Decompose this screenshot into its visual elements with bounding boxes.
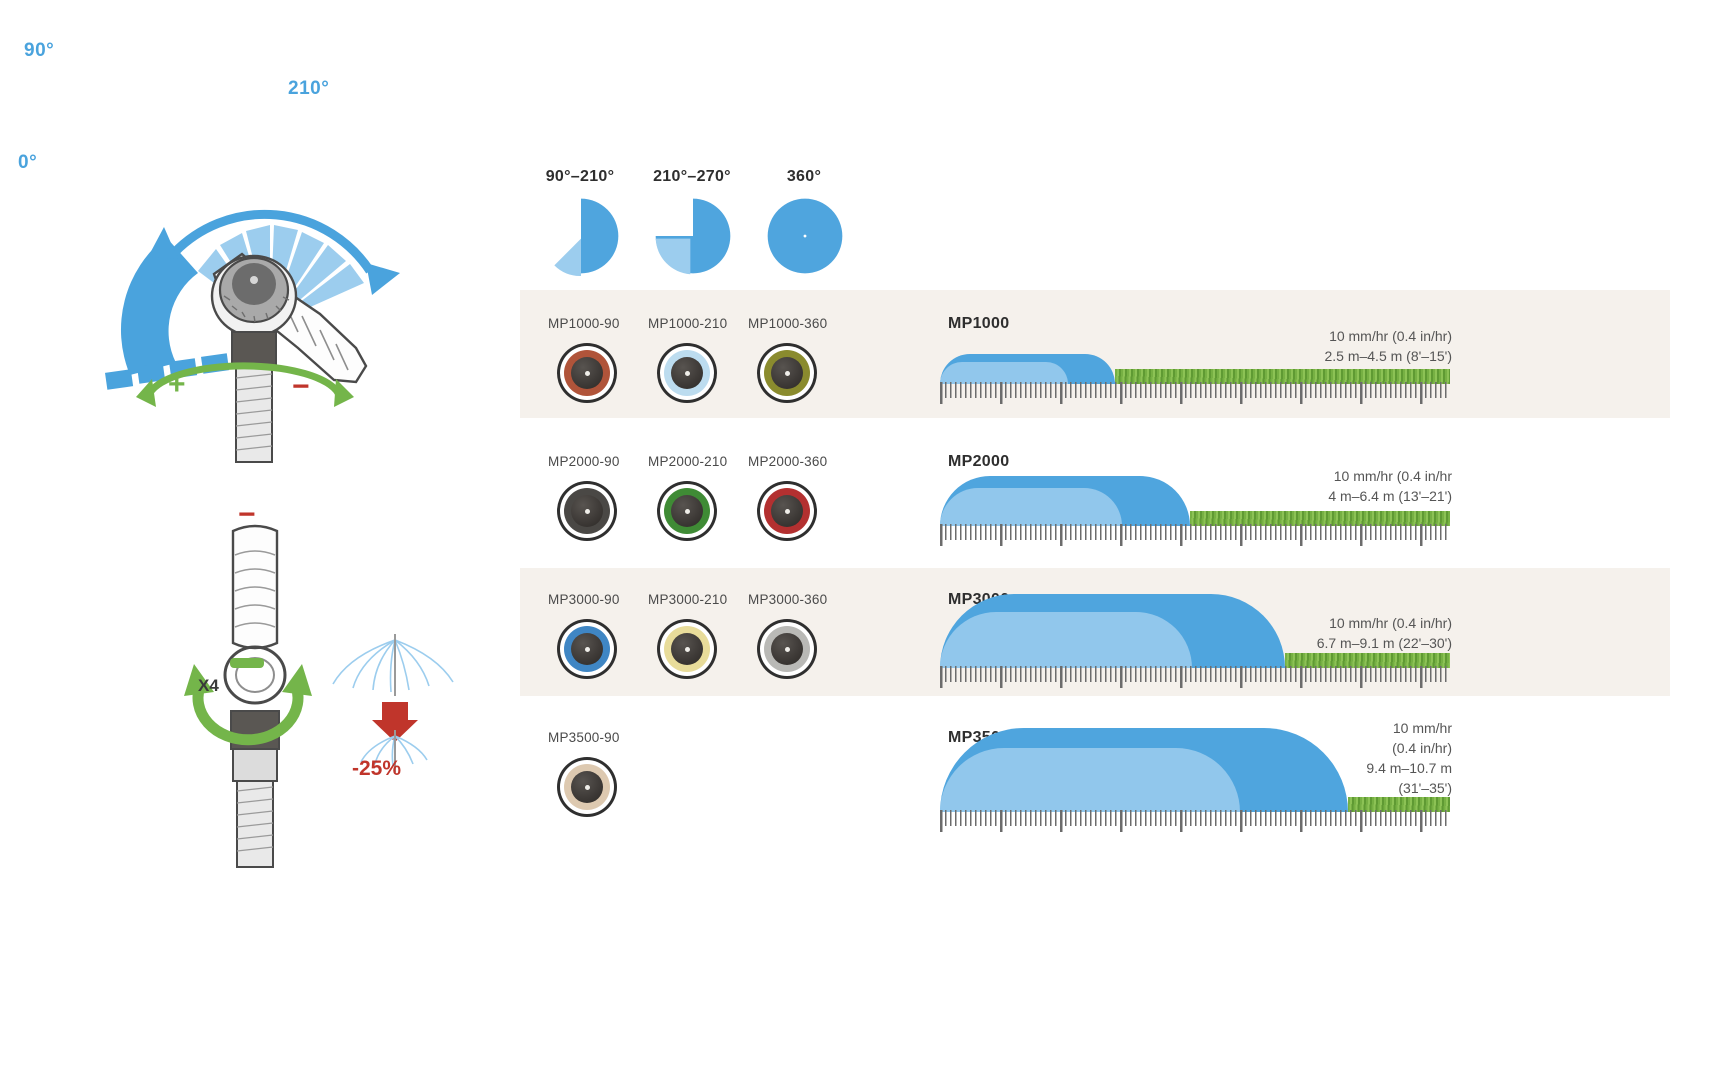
nozzle-pin	[685, 371, 690, 376]
nozzle-performance-chart: 90°–210° 210°–270° 360° MP1000-90 MP1000…	[500, 0, 1710, 1080]
spray-fan-large	[333, 640, 453, 692]
nozzle-mp3500-90[interactable]	[560, 760, 614, 814]
nozzle-label-mp3000-360: MP3000-360	[748, 592, 827, 607]
nozzle-pin	[585, 785, 590, 790]
nozzle-pin	[685, 647, 690, 652]
nozzle-label-mp1000-90: MP1000-90	[548, 316, 620, 331]
nozzle-mp3000-210[interactable]	[660, 622, 714, 676]
distance-ruler-major	[940, 810, 1450, 832]
radius-arrow-b	[282, 664, 312, 696]
arc-pie-210-270	[648, 196, 738, 276]
spray-inner	[940, 748, 1240, 812]
arrow-head-90	[148, 227, 178, 259]
nozzle-pin	[585, 371, 590, 376]
arc-heading-360: 360°	[744, 168, 864, 186]
nozzle-label-mp3000-90: MP3000-90	[548, 592, 620, 607]
spray-inner	[940, 362, 1068, 384]
spray-inner	[940, 488, 1122, 526]
series-name-mp1000: MP1000	[948, 315, 1009, 333]
arc-pie-90-210	[536, 196, 626, 276]
nozzle-mp1000-210[interactable]	[660, 346, 714, 400]
nozzle-pin	[785, 509, 790, 514]
distance-ruler-major	[940, 524, 1450, 546]
arc-heading-90-210: 90°–210°	[520, 168, 640, 186]
arc-label-210: 210°	[288, 78, 329, 100]
nozzle-label-mp3500-90: MP3500-90	[548, 730, 620, 745]
nozzle-label-mp2000-210: MP2000-210	[648, 454, 727, 469]
nozzle-pin	[685, 509, 690, 514]
cap-screw	[250, 276, 258, 284]
arc-heading-210-270: 210°–270°	[632, 168, 752, 186]
nozzle-mp1000-90[interactable]	[560, 346, 614, 400]
rotation-minus-sign: −	[292, 372, 310, 402]
distance-ruler-major	[940, 382, 1450, 404]
spray-profile-mp1000	[940, 336, 1450, 398]
nozzle-label-mp1000-210: MP1000-210	[648, 316, 727, 331]
nozzle-mp2000-360[interactable]	[760, 484, 814, 538]
spray-profile-mp3500	[940, 714, 1450, 826]
rotation-arrow-left	[136, 379, 156, 407]
nozzle-mp3000-90[interactable]	[560, 622, 614, 676]
nozzle-label-mp2000-90: MP2000-90	[548, 454, 620, 469]
radius-bar	[230, 658, 264, 668]
nozzle-pin	[785, 647, 790, 652]
radius-reduction-label: -25%	[352, 757, 401, 781]
arc-label-0: 0°	[18, 152, 37, 174]
nozzle-label-mp3000-210: MP3000-210	[648, 592, 727, 607]
left-illustration-panel: 90° 210° 0° + −	[0, 0, 500, 1080]
rotation-direction-arrows	[130, 355, 360, 425]
nozzle-label-mp1000-360: MP1000-360	[748, 316, 827, 331]
nozzle-label-mp2000-360: MP2000-360	[748, 454, 827, 469]
nozzle-mp1000-360[interactable]	[760, 346, 814, 400]
rotation-arrow-right	[334, 379, 354, 407]
nozzle-pin	[785, 371, 790, 376]
spray-inner	[940, 612, 1192, 668]
distance-ruler-major	[940, 666, 1450, 688]
radius-turns-label: X4	[198, 676, 219, 696]
arc-label-90: 90°	[24, 40, 54, 62]
nozzle-mp2000-210[interactable]	[660, 484, 714, 538]
spray-profile-mp3000	[940, 578, 1450, 682]
nozzle-mp2000-90[interactable]	[560, 484, 614, 538]
radius-rotation-arrows	[178, 640, 318, 760]
nozzle-pin	[585, 647, 590, 652]
nozzle-mp3000-360[interactable]	[760, 622, 814, 676]
nozzle-pin	[585, 509, 590, 514]
arc-pie-360	[760, 196, 850, 276]
spray-profile-mp2000	[940, 458, 1450, 540]
rotation-plus-sign: +	[168, 370, 186, 400]
